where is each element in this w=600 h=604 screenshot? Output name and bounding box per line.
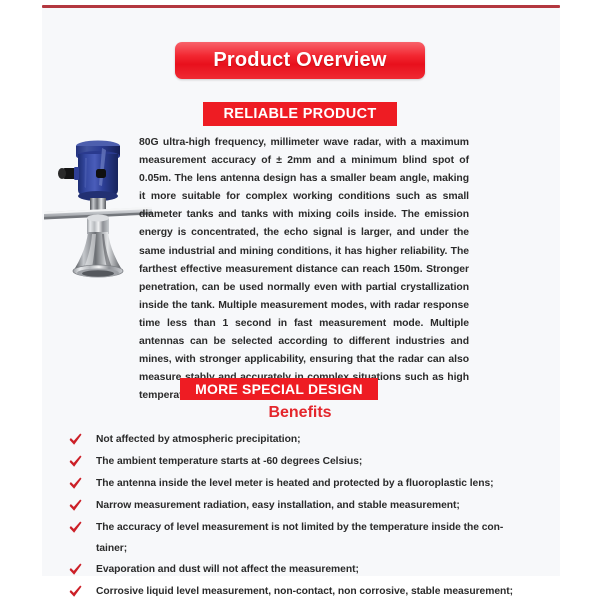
more-special-design-label: MORE SPECIAL DESIGN — [195, 381, 363, 397]
list-item-label: The accuracy of level measurement is not… — [96, 518, 503, 559]
top-divider-rule — [42, 5, 560, 8]
checkmark-cell — [68, 430, 96, 447]
reliable-product-banner: RELIABLE PRODUCT — [203, 102, 397, 126]
overview-paragraph: 80G ultra-high frequency, millimeter wav… — [139, 134, 469, 405]
list-item: Narrow measurement radiation, easy insta… — [68, 496, 588, 517]
list-item: The ambient temperature starts at -60 de… — [68, 452, 588, 473]
checkmark-cell — [68, 474, 96, 491]
product-overview-banner-label: Product Overview — [213, 49, 386, 72]
list-item-label: The antenna inside the level meter is he… — [96, 474, 494, 495]
check-icon — [68, 520, 83, 535]
list-item: Not affected by atmospheric precipitatio… — [68, 430, 588, 451]
check-icon — [68, 562, 83, 577]
check-icon — [68, 432, 83, 447]
more-special-design-banner: MORE SPECIAL DESIGN — [180, 378, 378, 400]
list-item-label: Corrosive liquid level measurement, non-… — [96, 582, 513, 603]
list-item-label: The ambient temperature starts at -60 de… — [96, 452, 362, 473]
product-overview-banner: Product Overview — [175, 42, 425, 79]
checkmark-cell — [68, 560, 96, 577]
check-icon — [68, 476, 83, 491]
check-icon — [68, 454, 83, 469]
product-overview-page: Product Overview RELIABLE PRODUCT — [0, 0, 600, 600]
check-icon — [68, 584, 83, 599]
list-item-label: Narrow measurement radiation, easy insta… — [96, 496, 460, 517]
list-item-label: Not affected by atmospheric precipitatio… — [96, 430, 300, 451]
checkmark-cell — [68, 452, 96, 469]
benefits-list: Not affected by atmospheric precipitatio… — [68, 430, 588, 604]
list-item-label: Evaporation and dust will not affect the… — [96, 560, 359, 581]
checkmark-cell — [68, 518, 96, 535]
list-item: The accuracy of level measurement is not… — [68, 518, 588, 559]
checkmark-cell — [68, 496, 96, 513]
checkmark-cell — [68, 582, 96, 599]
list-item: Evaporation and dust will not affect the… — [68, 560, 588, 581]
reliable-product-banner-label: RELIABLE PRODUCT — [223, 106, 376, 122]
check-icon — [68, 498, 83, 513]
benefits-heading: Benefits — [0, 404, 600, 422]
list-item: The antenna inside the level meter is he… — [68, 474, 588, 495]
